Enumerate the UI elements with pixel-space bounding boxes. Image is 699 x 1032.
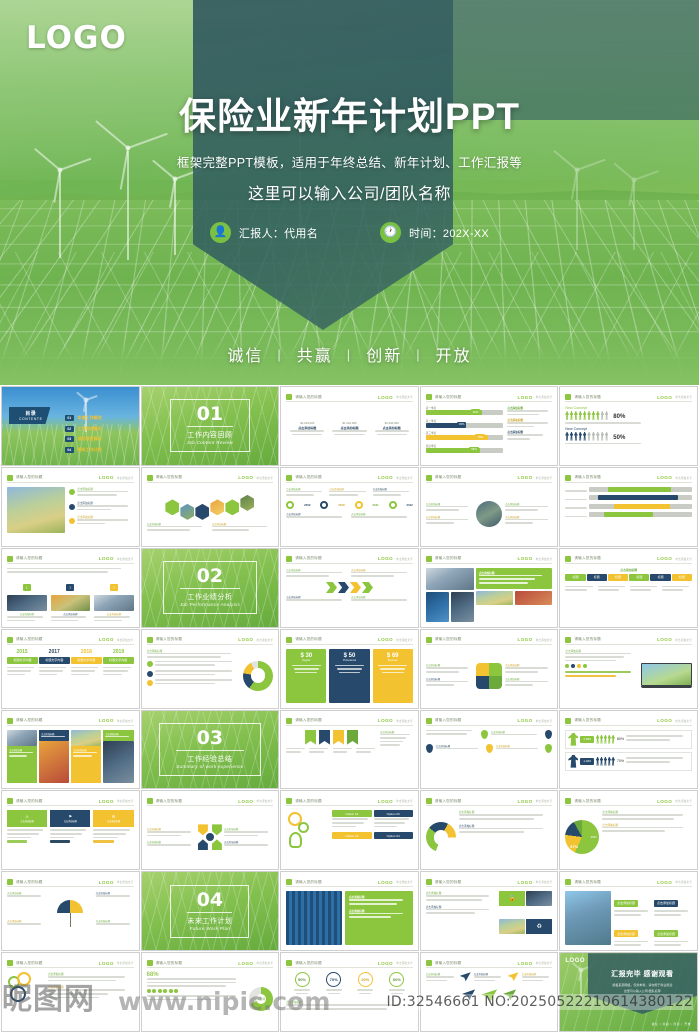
chevron-arrow-icon	[338, 582, 349, 593]
section-title-cn: 工作经验总结	[176, 754, 243, 764]
year-label: 2015	[7, 649, 37, 655]
slide-photo	[426, 592, 449, 622]
user-icon: 👤	[210, 222, 231, 243]
person-pct: 80%	[617, 737, 624, 741]
paper-plane-icon	[460, 972, 471, 981]
list-item[interactable]: 01年度工作概述	[65, 415, 102, 421]
thumbnail-wave-timeline[interactable]: 请输入您的标题 LOGO 单击添加文字 点击添加标题 点击添加标题 点击添加标题…	[280, 467, 419, 547]
thumbnail-spiral-donut[interactable]: 请输入您的标题 LOGO 单击添加文字 点击添加标题	[141, 629, 280, 709]
hexagon-shape	[195, 504, 209, 520]
thumbnail-arc-chart[interactable]: 请输入您的标题 LOGO 单击添加文字 点击添加标题 点击添加标题	[420, 790, 559, 870]
thumb-header: 请输入您的标题 LOGO 单击添加文字	[565, 474, 692, 483]
map-pin-icon	[486, 744, 493, 753]
percent-circle: 60%	[389, 972, 404, 987]
final-title: 汇报完毕 感谢观看	[611, 969, 673, 979]
thumb-header: 请输入您的标题 LOGO 单击添加文字	[147, 474, 274, 483]
list-item[interactable]: 03成功项目展示	[65, 436, 102, 442]
section-number: 01	[187, 405, 234, 427]
slide-photo	[526, 891, 552, 906]
thumbnail-hexagons[interactable]: 请输入您的标题 LOGO 单击添加文字 点击添加标题 点击添加标题	[141, 467, 280, 547]
tag-icon	[286, 475, 292, 481]
tag-icon	[286, 960, 292, 966]
slide-photo	[51, 595, 91, 611]
thumbnail-globe-text[interactable]: 请输入您的标题 LOGO 单击添加文字 点击添加标题 点击添加标题 点击添加标题…	[420, 467, 559, 547]
year-label: 2018	[71, 649, 101, 655]
thumbnail-chevron-arrows[interactable]: 请输入您的标题 LOGO 单击添加文字 点击添加标题 点击添加标题 点击添加标题…	[280, 548, 419, 628]
thumb-header: 请输入您的标题 LOGO 单击添加文字	[286, 636, 413, 645]
cover-slogan-row: 诚信 | 共赢 | 创新 | 开放	[0, 342, 699, 366]
thumbnail-solar-panel-text[interactable]: 请输入您的标题 LOGO 单击添加文字 点击添加标题 点击添加标题	[280, 871, 419, 951]
tag-icon	[426, 960, 432, 966]
thumb-header: 请输入您的标题 LOGO 单击添加文字	[565, 393, 692, 402]
thumbnail-puzzle-diagram[interactable]: 请输入您的标题 LOGO 单击添加文字 点击添加标题 点击添加标题 点击添加标题…	[420, 629, 559, 709]
slogan-item-3: 创新	[366, 342, 402, 366]
tag-icon	[286, 718, 292, 724]
presenter-info: 👤 汇报人：代用名	[210, 222, 318, 243]
thumbnail-worker-checklist[interactable]: 请输入您的标题 LOGO 单击添加文字 点击添加标题 点击添加标题 点击添加标题…	[559, 871, 698, 951]
list-item[interactable]: 02工作完成情况	[65, 426, 102, 432]
cover-subtitle: 框架完整PPT模板，适用于年终总结、新年计划、工作汇报等	[0, 152, 699, 171]
tag-icon	[565, 879, 571, 885]
thumbnail-progress-bars[interactable]: 请输入您的标题 LOGO 单击添加文字 第一季度 62% 第二季度 45% 第三…	[420, 386, 559, 466]
thumb-header: 请输入您的标题 LOGO 单击添加文字	[565, 878, 692, 887]
thumb-header: 请输入您的标题 LOGO 单击添加文字	[426, 474, 553, 483]
clock-icon: 🕐	[380, 222, 401, 243]
people-row-title: New Concept	[565, 427, 692, 431]
watermark-id: ID:32546661 NO:20250522210614380122	[387, 994, 693, 1010]
presenter-label: 汇报人：代用名	[239, 225, 318, 241]
person-icon	[568, 733, 578, 746]
thumbnail-section-03[interactable]: 03 工作经验总结 Summary of work experience	[141, 710, 280, 790]
tag-icon	[147, 960, 153, 966]
section-number: 03	[176, 729, 243, 751]
contents-label: 目录 CONTENTE	[9, 407, 50, 424]
thumbnail-umbrella[interactable]: 请输入您的标题 LOGO 单击添加文字 点击添加标题 点击添加标题 点击添加标题…	[1, 871, 140, 951]
section-title-cn: 未来工作计划	[187, 916, 232, 926]
cover-logo: LOGO	[26, 20, 127, 56]
recycle-icon: ♻	[526, 919, 552, 934]
thumbnail-people-percent[interactable]: 请输入您的标题 LOGO 单击添加文字 New Concept 80% New …	[559, 386, 698, 466]
tag-icon	[426, 798, 432, 804]
lock-icon: 🔒	[499, 891, 525, 906]
date-label: 时间：202X-XX	[409, 225, 489, 241]
thumbnail-vertical-cards[interactable]: 请输入您的标题 LOGO 单击添加文字 点击添加标题 点击添加标题 点击添加标题…	[1, 710, 140, 790]
thumb-header: 请输入您的标题 LOGO 单击添加文字	[426, 636, 553, 645]
trophy-icon	[387, 408, 396, 419]
thumb-header: 请输入您的标题 LOGO 单击添加文字	[7, 555, 134, 564]
tag-icon	[7, 879, 13, 885]
progress-bar: 58%	[426, 448, 504, 453]
page-title: 保险业新年计划PPT	[0, 86, 699, 140]
banner-icon	[319, 730, 330, 745]
circle-icon-chart	[355, 501, 363, 509]
thumbnail-gears-options[interactable]: 请输入您的标题 LOGO 单击添加文字 Option 01 Option 03	[280, 790, 419, 870]
tag-icon	[286, 556, 292, 562]
slide-photo	[7, 595, 47, 611]
thumb-header: 请输入您的标题 LOGO 单击添加文字	[286, 878, 413, 887]
final-logo: LOGO	[565, 958, 585, 964]
slide-photo	[7, 487, 65, 533]
thumb-header: 请输入您的标题 LOGO 单击添加文字	[426, 878, 553, 887]
section-title-en: Job Content Review	[187, 440, 234, 445]
thumbnail-section-02[interactable]: 02 工作业绩分析 Job Performance Analysis	[141, 548, 280, 628]
puzzle-icon	[476, 663, 502, 689]
pie-label: 57%	[570, 844, 578, 849]
tag-icon	[7, 475, 13, 481]
tag-icon	[426, 394, 432, 400]
date-info: 🕐 时间：202X-XX	[380, 222, 489, 243]
trophy-icon	[303, 408, 312, 419]
chevron-arrow-icon	[350, 582, 361, 593]
thumbnail-three-boxes[interactable]: 请输入您的标题 LOGO 单击添加文字 ⚠点击添加标题 ⚑点击添加标题 ⚙点击添…	[1, 790, 140, 870]
tag-icon	[147, 475, 153, 481]
circle-icon-search	[320, 501, 328, 509]
thumb-header: 请输入您的标题 LOGO 单击添加文字	[7, 797, 134, 806]
thumb-header: 请输入您的标题 LOGO 单击添加文字	[286, 393, 413, 402]
tag-icon	[565, 798, 571, 804]
circle-icon-gear	[389, 501, 397, 509]
thumb-header: 请输入您的标题 LOGO 单击添加文字	[147, 959, 274, 968]
thumbnail-person-percent-rows[interactable]: 请输入您的标题 LOGO 单击添加文字 2,690 80% 1,040 70%	[559, 710, 698, 790]
map-pin-icon	[426, 744, 433, 753]
people-pct: 50%	[613, 435, 625, 441]
slogan-item-2: 共赢	[297, 342, 333, 366]
thumb-header: 请输入您的标题 LOGO 单击添加文字	[286, 959, 413, 968]
gear-icon	[298, 822, 309, 833]
slide-photo	[451, 592, 474, 622]
cover-slide: LOGO 保险业新年计划PPT 框架完整PPT模板，适用于年终总结、新年计划、工…	[0, 0, 699, 385]
tag-icon	[7, 960, 13, 966]
thumb-header: 请输入您的标题 LOGO 单击添加文字	[565, 555, 692, 564]
banner-icon	[347, 730, 358, 745]
tag-icon	[426, 556, 432, 562]
slide-photo	[426, 568, 474, 590]
pricing-card[interactable]: $ 50 Professional	[329, 649, 369, 703]
slogan-separator: |	[277, 347, 282, 362]
slogan-item-4: 开放	[436, 342, 472, 366]
thumb-header: 请输入您的标题 LOGO 单击添加文字	[286, 717, 413, 726]
slide-photo	[94, 595, 134, 611]
circle-icon-home	[286, 501, 294, 509]
cover-meta-row: 👤 汇报人：代用名 🕐 时间：202X-XX	[0, 222, 699, 243]
thumbnail-laptop[interactable]: 请输入您的标题 LOGO 单击添加文字 点击添加标题	[559, 629, 698, 709]
thumb-header: 请输入您的标题 LOGO 单击添加文字	[286, 474, 413, 483]
final-sub-2: 这里可以输入公司/团队名称	[624, 989, 661, 993]
thumbnail-chip-flow[interactable]: 请输入您的标题 LOGO 单击添加文字 点击添加标题 标题 标题 标题 标题 标…	[559, 548, 698, 628]
people-pct: 80%	[613, 414, 625, 420]
slide-thumbnail-grid: 目录 CONTENTE 01年度工作概述 02工作完成情况 03成功项目展示 0…	[0, 385, 699, 1024]
trophy-icon	[345, 408, 354, 419]
slide-photo	[286, 891, 342, 945]
section-title-en: Future Work Plan	[187, 926, 232, 931]
tag-icon	[7, 798, 13, 804]
map-pin-icon	[545, 744, 552, 753]
section-title-cn: 工作内容回顾	[187, 430, 234, 440]
banner-icon	[305, 730, 316, 745]
watermark-site-url: www.nipic.com	[118, 987, 330, 1016]
tag-icon	[7, 556, 13, 562]
thumb-header: 请输入您的标题 LOGO 单击添加文字	[426, 555, 553, 564]
tag-icon	[565, 475, 571, 481]
slide-photo	[499, 919, 525, 934]
number-badge: 2	[66, 584, 74, 591]
slogan-item-1: 诚信	[227, 342, 263, 366]
thumbnail-pins[interactable]: 请输入您的标题 LOGO 单击添加文字 点击添加标题 点击添加标题 点击添加标题	[420, 710, 559, 790]
progress-bar: 45%	[426, 423, 504, 428]
thumbnail-photo-collage[interactable]: 请输入您的标题 LOGO 单击添加文字 点击添加标题	[420, 548, 559, 628]
arc-chart	[426, 822, 456, 852]
thumb-header: 请输入您的标题 LOGO 单击添加文字	[7, 636, 134, 645]
person-icon	[568, 755, 578, 768]
progress-bar: 78%	[426, 435, 504, 440]
section-title-en: Summary of work experience	[176, 764, 243, 769]
thumb-header: 请输入您的标题 LOGO 单击添加文字	[565, 717, 692, 726]
globe-photo	[476, 501, 502, 527]
thumbnail-icon-tiles[interactable]: 请输入您的标题 LOGO 单击添加文字 点击添加标题 点击添加标题 🔒 ♻	[420, 871, 559, 951]
thumbnail-paper-planes[interactable]: 请输入您的标题 LOGO 单击添加文字 点击添加标题 点击添加标题 点击添加标题	[420, 952, 559, 1032]
watermark-site-logo: 昵图网	[2, 974, 95, 1018]
percent-circle: 70%	[326, 972, 341, 987]
thumb-header: 请输入您的标题 LOGO 单击添加文字	[7, 878, 134, 887]
tag-icon	[147, 798, 153, 804]
thumb-header: 请输入您的标题 LOGO 单击添加文字	[147, 797, 274, 806]
thumbnail-photo-bullets[interactable]: 请输入您的标题 LOGO 单击添加文字 点击添加标题 点击添加标题 点击添加标题	[1, 467, 140, 547]
pricing-card[interactable]: $ 30 Regular	[286, 649, 326, 703]
number-badge: 3	[110, 584, 118, 591]
hexagon-photo	[180, 504, 194, 520]
thumbnail-section-01[interactable]: 01 工作内容回顾 Job Content Review	[141, 386, 280, 466]
progress-bar: 62%	[426, 410, 504, 415]
cover-company-placeholder: 这里可以输入公司/团队名称	[0, 180, 699, 204]
pie-label: 20%	[591, 835, 597, 839]
pricing-card[interactable]: $ 69 Business	[373, 649, 413, 703]
slogan-separator: |	[347, 347, 352, 362]
tag-icon	[147, 637, 153, 643]
section-title-cn: 工作业绩分析	[180, 592, 240, 602]
slide-photo	[476, 591, 513, 605]
person-pct: 70%	[617, 759, 624, 763]
section-number: 02	[180, 567, 240, 589]
chevron-arrow-icon	[362, 582, 373, 593]
bullet-icon	[69, 489, 75, 495]
year-label: 2019	[103, 649, 133, 655]
thumb-header: 请输入您的标题 LOGO 单击添加文字	[286, 555, 413, 564]
banner-icon	[333, 730, 344, 745]
umbrella-icon	[57, 900, 83, 913]
thumbnail-three-ribbons[interactable]: 请输入您的标题 LOGO 单击添加文字 1 点击添加标题 2 点击添加标题	[1, 548, 140, 628]
thumbnail-trophies[interactable]: 请输入您的标题 LOGO 单击添加文字 $1,234,000 点击添加标题 $1…	[280, 386, 419, 466]
hexagon-shape	[225, 499, 239, 515]
final-sub-1: 模板来源网络，仅供参考，请勿用于商业用途	[612, 983, 672, 987]
thumb-header: 请输入您的标题 LOGO 单击添加文字	[426, 393, 553, 402]
number-badge: 1	[23, 584, 31, 591]
thumbnail-pricing-cards[interactable]: 请输入您的标题 LOGO 单击添加文字 $ 30 Regular $ 50 Pr…	[280, 629, 419, 709]
tag-icon	[286, 637, 292, 643]
tag-icon	[565, 556, 571, 562]
section-title-en: Job Performance Analysis	[180, 602, 240, 607]
section-number: 04	[187, 891, 232, 913]
contents-list: 01年度工作概述 02工作完成情况 03成功项目展示 04明年工作计划	[65, 415, 102, 457]
tag-icon	[426, 475, 432, 481]
tag-icon	[286, 879, 292, 885]
thumb-header: 请输入您的标题 LOGO 单击添加文字	[426, 797, 553, 806]
hexagon-photo	[240, 495, 254, 511]
thumbnail-pie-chart[interactable]: 请输入您的标题 LOGO 单击添加文字 57% 20% 点击添加标题 点击添加标…	[559, 790, 698, 870]
bullet-icon	[69, 504, 75, 510]
thumb-header: 请输入您的标题 LOGO 单击添加文字	[7, 474, 134, 483]
slide-photo	[565, 891, 611, 945]
thumbnail-thank-you[interactable]: LOGO 汇报完毕 感谢观看 模板来源网络，仅供参考，请勿用于商业用途 这里可以…	[559, 952, 698, 1032]
lightbulb-icon	[289, 832, 302, 848]
thumb-header: 请输入您的标题 LOGO 单击添加文字	[565, 797, 692, 806]
hexagon-shape	[165, 499, 179, 515]
laptop-icon	[641, 663, 692, 686]
tag-icon	[286, 798, 292, 804]
cycle-diagram	[198, 824, 222, 850]
map-pin-icon	[545, 730, 552, 739]
hexagon-photo	[210, 499, 224, 515]
thumbnail-contents[interactable]: 目录 CONTENTE 01年度工作概述 02工作完成情况 03成功项目展示 0…	[1, 386, 140, 466]
people-row-title: New Concept	[565, 406, 692, 410]
thumb-header: 请输入您的标题 LOGO 单击添加文字	[426, 717, 553, 726]
tag-icon	[426, 718, 432, 724]
tag-icon	[426, 879, 432, 885]
thumb-header: 请输入您的标题 LOGO 单击添加文字	[7, 717, 134, 726]
thumbnail-section-04[interactable]: 04 未来工作计划 Future Work Plan	[141, 871, 280, 951]
donut-chart	[243, 661, 273, 691]
thumb-header: 请输入您的标题 LOGO 单击添加文字	[286, 797, 413, 806]
percent-circle: 50%	[295, 972, 310, 987]
chevron-arrow-icon	[326, 582, 337, 593]
tag-icon	[7, 637, 13, 643]
tag-icon	[565, 718, 571, 724]
thumbnail-banners[interactable]: 请输入您的标题 LOGO 单击添加文字	[280, 710, 419, 790]
tag-icon	[7, 718, 13, 724]
thumb-header: 请输入您的标题 LOGO 单击添加文字	[7, 959, 134, 968]
tag-icon	[286, 394, 292, 400]
thumbnail-option-cycle[interactable]: 请输入您的标题 LOGO 单击添加文字 点击添加标题 点击添加标题 点击添加标题…	[141, 790, 280, 870]
thumbnail-year-timeline[interactable]: 请输入您的标题 LOGO 单击添加文字 2015 2017 2018 2019 …	[1, 629, 140, 709]
final-slogan: 诚信 | 共赢 | 创新 | 开放	[652, 1022, 691, 1026]
tag-icon	[565, 394, 571, 400]
tag-icon	[426, 637, 432, 643]
thumb-header: 请输入您的标题 LOGO 单击添加文字	[426, 959, 553, 968]
year-label: 2017	[39, 649, 69, 655]
paper-plane-icon	[508, 972, 519, 981]
thumbnail-h-bars[interactable]: 请输入您的标题 LOGO 单击添加文字	[559, 467, 698, 547]
slogan-separator: |	[416, 347, 421, 362]
thumb-header: 请输入您的标题 LOGO 单击添加文字	[565, 636, 692, 645]
bullet-icon	[69, 518, 75, 524]
percent-circle: 20%	[358, 972, 373, 987]
slide-photo	[515, 591, 552, 605]
thumb-header: 请输入您的标题 LOGO 单击添加文字	[147, 636, 274, 645]
tag-icon	[565, 637, 571, 643]
map-pin-icon	[481, 730, 488, 739]
list-item[interactable]: 04明年工作计划	[65, 447, 102, 453]
